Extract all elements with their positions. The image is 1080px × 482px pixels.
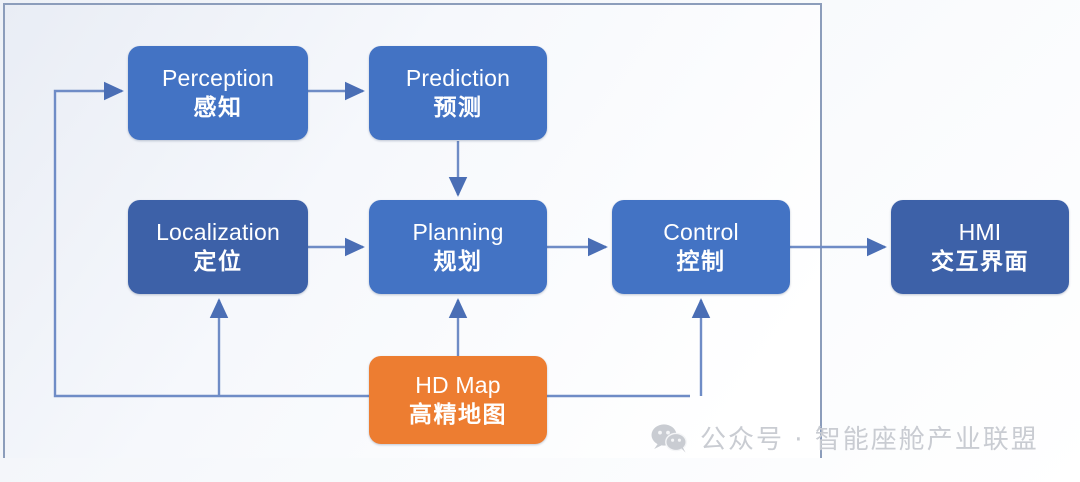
node-prediction[interactable]: Prediction 预测 (369, 46, 547, 140)
node-planning-label-en: Planning (412, 220, 503, 246)
node-hmi[interactable]: HMI 交互界面 (891, 200, 1069, 294)
node-hd-map[interactable]: HD Map 高精地图 (369, 356, 547, 444)
node-hd-map-label-zh: 高精地图 (409, 402, 507, 428)
node-control-label-en: Control (663, 220, 739, 246)
node-control[interactable]: Control 控制 (612, 200, 790, 294)
node-localization[interactable]: Localization 定位 (128, 200, 308, 294)
node-localization-label-en: Localization (156, 220, 280, 246)
node-localization-label-zh: 定位 (194, 249, 243, 275)
node-hmi-label-zh: 交互界面 (931, 249, 1029, 275)
node-planning[interactable]: Planning 规划 (369, 200, 547, 294)
node-prediction-label-zh: 预测 (434, 95, 483, 121)
node-prediction-label-en: Prediction (406, 66, 510, 92)
node-hmi-label-en: HMI (959, 220, 1002, 246)
node-perception-label-zh: 感知 (194, 95, 243, 121)
node-hd-map-label-en: HD Map (415, 373, 501, 399)
node-perception-label-en: Perception (162, 66, 274, 92)
diagram-canvas: Perception 感知 Prediction 预测 Localization… (0, 0, 1080, 482)
node-perception[interactable]: Perception 感知 (128, 46, 308, 140)
node-control-label-zh: 控制 (677, 249, 726, 275)
node-planning-label-zh: 规划 (434, 249, 483, 275)
